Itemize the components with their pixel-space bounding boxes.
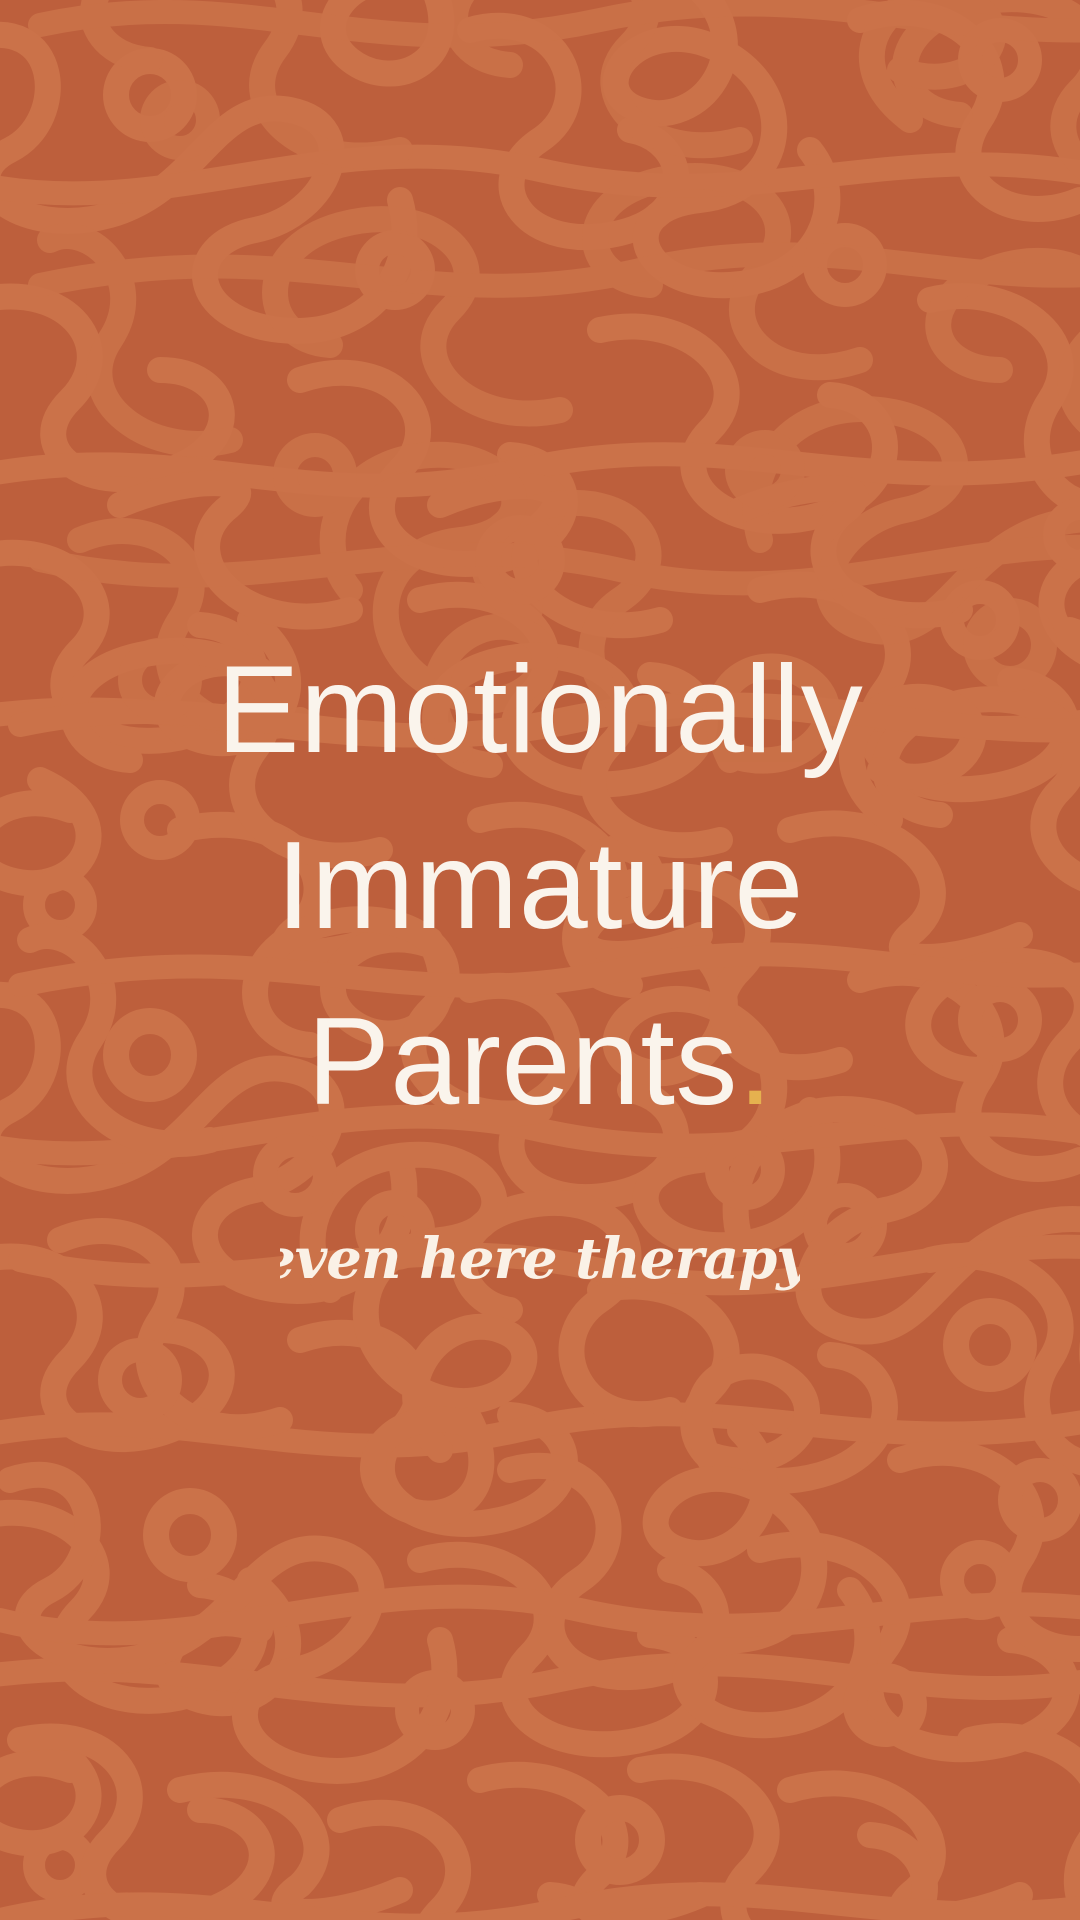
headline-line-3: Parents. bbox=[217, 974, 863, 1150]
accent-dot-icon: . bbox=[738, 993, 773, 1131]
headline-line-2: Immature bbox=[217, 798, 863, 974]
headline-line-3-text: Parents bbox=[307, 993, 738, 1131]
page-title: Emotionally Immature Parents. bbox=[217, 622, 863, 1150]
post-content: Emotionally Immature Parents. even here … bbox=[0, 0, 1080, 1920]
brand-logo: even here therapy. bbox=[280, 1220, 800, 1298]
headline-line-1: Emotionally bbox=[217, 622, 863, 798]
logo-wordmark: even here therapy. bbox=[280, 1226, 800, 1292]
social-post-canvas: Emotionally Immature Parents. even here … bbox=[0, 0, 1080, 1920]
